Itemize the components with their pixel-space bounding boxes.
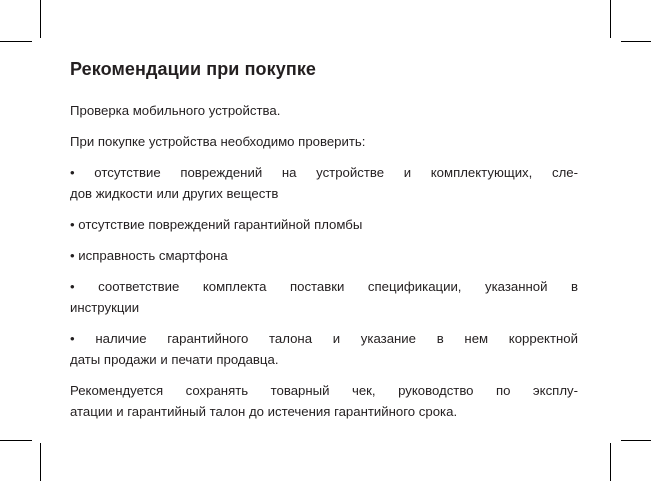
crop-mark-top-right-vertical	[610, 0, 611, 38]
bullet-text: отсутствие повреждений на устройстве и к…	[94, 165, 578, 180]
bullet-line-second: даты продажи и печати продавца.	[70, 349, 578, 370]
closing-line-first: Рекомендуется сохранять товарный чек, ру…	[70, 380, 578, 401]
closing-line-second: атации и гарантийный талон до истечения …	[70, 401, 578, 422]
bullet-marker: •	[70, 217, 75, 232]
list-item: • соответствие комплекта поставки специф…	[70, 276, 578, 318]
closing-paragraph: Рекомендуется сохранять товарный чек, ру…	[70, 380, 578, 422]
bullet-line-first: • наличие гарантийного талона и указание…	[70, 328, 578, 349]
bullet-line-first: • отсутствие повреждений на устройстве и…	[70, 162, 578, 183]
crop-mark-bottom-right-vertical	[610, 443, 611, 481]
bullet-marker: •	[70, 248, 75, 263]
crop-mark-bottom-left-horizontal	[0, 440, 32, 441]
bullet-marker: •	[70, 331, 75, 346]
bullet-text: наличие гарантийного талона и указание в…	[95, 331, 578, 346]
bullet-text: соответствие комплекта поставки специфик…	[98, 279, 578, 294]
crop-mark-top-right-horizontal	[621, 41, 651, 42]
page-content: Рекомендации при покупке Проверка мобиль…	[70, 58, 578, 422]
crop-mark-bottom-right-horizontal	[621, 440, 651, 441]
document-page: { "page": { "title": "Рекомендации при п…	[0, 0, 651, 481]
list-item: • исправность смартфона	[70, 245, 578, 266]
intro-line-1: Проверка мобильного устройства.	[70, 100, 578, 121]
bullet-marker: •	[70, 165, 75, 180]
list-item: • отсутствие повреждений гарантийной пло…	[70, 214, 578, 235]
intro-line-2: При покупке устройства необходимо провер…	[70, 131, 578, 152]
bullet-line-second: дов жидкости или других веществ	[70, 183, 578, 204]
bullet-text: исправность смартфона	[78, 248, 227, 263]
bullet-line-second: инструкции	[70, 297, 578, 318]
crop-mark-top-left-horizontal	[0, 41, 32, 42]
crop-mark-top-left-vertical	[40, 0, 41, 38]
list-item: • наличие гарантийного талона и указание…	[70, 328, 578, 370]
list-item: • отсутствие повреждений на устройстве и…	[70, 162, 578, 204]
page-title: Рекомендации при покупке	[70, 58, 578, 80]
bullet-line-first: • соответствие комплекта поставки специф…	[70, 276, 578, 297]
bullet-text: отсутствие повреждений гарантийной пломб…	[78, 217, 362, 232]
crop-mark-bottom-left-vertical	[40, 443, 41, 481]
bullet-marker: •	[70, 279, 75, 294]
